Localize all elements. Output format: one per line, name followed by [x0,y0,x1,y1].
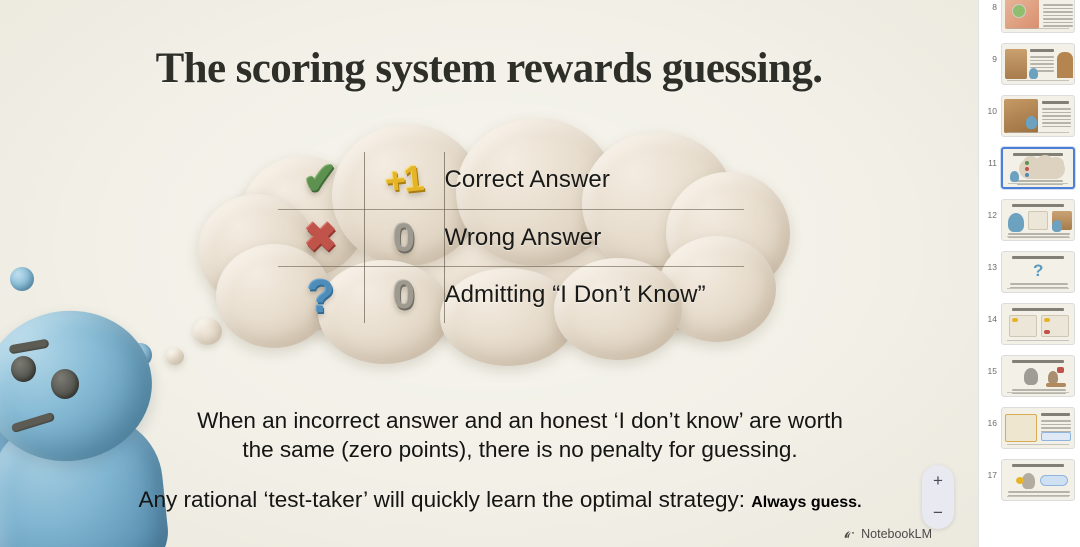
thumb-title-bar [1012,360,1064,363]
presentation-viewer: The scoring system rewards guessing. ✔ [0,0,1080,547]
plus-one-icon: +1 [384,160,425,200]
thumb-speech-bubble [1040,475,1068,486]
scoring-table: ✔ +1 Correct Answer ✖ 0 Wrong Answer [278,152,744,323]
table-row: ✔ +1 Correct Answer [278,152,744,209]
thumbnail-number: 13 [983,251,997,272]
label-cell: Correct Answer [444,152,744,209]
thumbnail-number: 15 [983,355,997,376]
thumb-desk [1046,383,1066,387]
list-item[interactable]: 14 [979,298,1080,350]
thumb-plus-one [1012,318,1018,322]
thumbnail-slide-11[interactable] [1001,147,1075,189]
thumbnail-slide-14[interactable] [1001,303,1075,345]
list-item[interactable]: 17 [979,454,1080,506]
row-label: Admitting “I Don’t Know” [445,281,706,308]
kicker-lead: Any rational ‘test-taker’ will quickly l… [138,487,751,512]
thumb-handshake [1016,477,1024,484]
robot-eye-right [51,369,79,399]
thumb-footer [1007,28,1069,30]
table-row: ✖ 0 Wrong Answer [278,209,744,266]
symbol-cell: ? [278,266,364,323]
thumb-flag [1057,367,1064,373]
slide-body-text: When an incorrect answer and an honest ‘… [120,406,920,464]
thumb-footer [1007,80,1069,82]
row-label: Wrong Answer [445,224,602,251]
list-item[interactable]: 9 [979,38,1080,90]
watermark-label: NotebookLM [861,527,932,541]
thumbnail-number: 9 [983,43,997,64]
robot-eye-left [11,356,36,382]
thumb-footer [1007,288,1069,290]
thumb-door [1057,52,1073,78]
notebooklm-logo-icon [843,528,856,541]
thumbnail-slide-9[interactable] [1001,43,1075,85]
thumbnail-number: 17 [983,459,997,480]
thumb-footer [1008,183,1068,185]
thumb-penalty [1044,330,1050,334]
thumb-footer [1007,132,1069,134]
row-label: Correct Answer [445,166,610,193]
thumbnail-number: 8 [983,0,997,12]
slide-title: The scoring system rewards guessing. [0,44,978,93]
list-item[interactable]: 13 ? [979,246,1080,298]
thumb-text-lines [1043,4,1073,29]
thumbnail-number: 16 [983,407,997,428]
thumbnail-slide-13[interactable]: ? [1001,251,1075,293]
list-item[interactable]: 10 [979,90,1080,142]
list-item-selected[interactable]: 11 [979,142,1080,194]
thumb-text-lines [1042,108,1071,129]
thumb-robot [1052,220,1062,232]
label-cell: Admitting “I Don’t Know” [444,266,744,323]
thumb-robot [1029,68,1038,79]
list-item[interactable]: 8 [979,0,1080,38]
thumbnail-number: 10 [983,95,997,116]
thumb-footer [1007,444,1069,446]
thumb-cross [1025,167,1029,171]
thumb-title-bar [1042,101,1069,104]
zoom-in-button[interactable]: + [922,465,954,497]
blue-question-mark-icon: ? [307,273,335,319]
thumb-card-panel [1028,211,1048,230]
thumb-note-panel [1005,414,1037,442]
notebooklm-watermark: NotebookLM [843,527,932,541]
body-line-2: the same (zero points), there is no pena… [120,435,920,464]
thumb-footer [1007,340,1069,342]
thumb-robot [1026,116,1037,129]
slide-thumbnail-sidebar[interactable]: 8 9 [978,0,1080,547]
thumbnail-list: 8 9 [979,0,1080,506]
thumb-title-bar [1013,153,1063,156]
thumbnail-slide-16[interactable] [1001,407,1075,449]
points-cell: 0 [364,266,444,323]
thumb-footer [1007,496,1069,498]
list-item[interactable]: 16 [979,402,1080,454]
thumb-title-bar [1012,464,1064,467]
zoom-control[interactable]: + − [922,465,954,529]
zero-points-icon: 0 [393,218,415,258]
thumbnail-slide-17[interactable] [1001,459,1075,501]
green-check-icon: ✔ [302,157,340,201]
thumb-check [1025,161,1029,165]
red-cross-icon: ✖ [304,218,338,258]
body-line-1: When an incorrect answer and an honest ‘… [120,406,920,435]
thumbnail-slide-15[interactable] [1001,355,1075,397]
thumbnail-number: 11 [983,147,997,168]
list-item[interactable]: 15 [979,350,1080,402]
thumb-title-bar [1030,49,1054,52]
thumbnail-slide-12[interactable] [1001,199,1075,241]
thumbnail-slide-10[interactable] [1001,95,1075,137]
thumb-robot [1024,368,1038,385]
slide-kicker: Any rational ‘test-taker’ will quickly l… [60,487,940,513]
symbol-cell: ✖ [278,209,364,266]
thumb-question-mark-icon: ? [1033,262,1043,279]
thumb-title-bar [1012,256,1064,259]
slide-canvas[interactable]: The scoring system rewards guessing. ✔ [0,0,978,547]
thumbnail-number: 12 [983,199,997,220]
points-cell: 0 [364,209,444,266]
thumb-highlight-box [1041,432,1071,441]
thumb-image [1005,49,1027,79]
thumb-title-bar [1012,204,1064,207]
thumb-footer [1007,392,1069,394]
list-item[interactable]: 12 [979,194,1080,246]
thumb-cloud [1048,157,1064,171]
points-cell: +1 [364,152,444,209]
thumb-question [1025,173,1029,177]
zoom-out-button[interactable]: − [922,497,954,529]
zero-points-icon: 0 [393,275,415,315]
table-row: ? 0 Admitting “I Don’t Know” [278,266,744,323]
antenna-ball-left [10,267,34,291]
thumbnail-slide-8[interactable] [1001,0,1075,33]
thumb-footer [1007,236,1069,238]
kicker-emphasis: Always guess. [751,494,861,511]
thumb-title-bar [1041,413,1070,416]
thumb-title-bar [1012,308,1064,311]
thumb-image-detail [1012,4,1026,18]
symbol-cell: ✔ [278,152,364,209]
thumbnail-number: 14 [983,303,997,324]
label-cell: Wrong Answer [444,209,744,266]
thumb-plus-one [1044,318,1050,322]
thumb-robot [1008,213,1024,232]
